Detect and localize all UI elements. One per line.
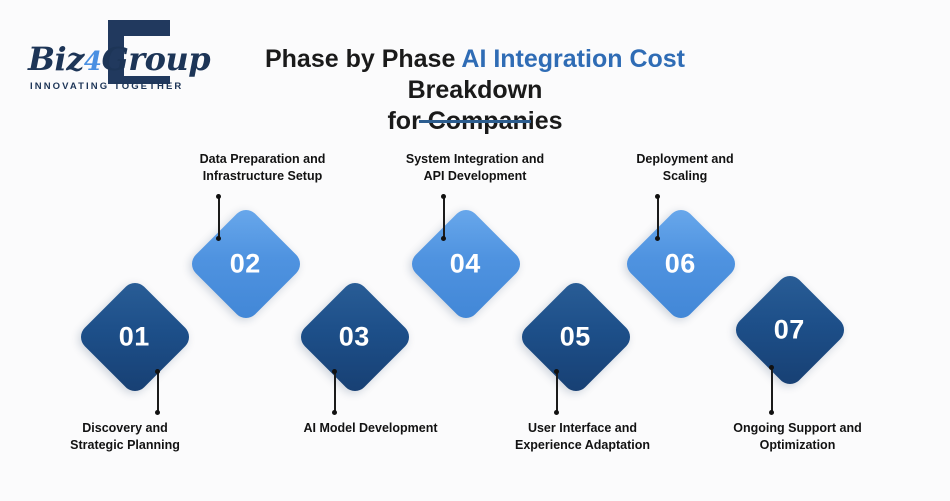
step-label-05-line2: Experience Adaptation — [490, 437, 675, 454]
step-connector-05 — [556, 371, 558, 413]
step-diamond-01[interactable]: 01 — [76, 278, 195, 397]
step-connector-dot-top-05 — [554, 369, 559, 374]
step-number-01: 01 — [119, 323, 150, 350]
page-title: Phase by Phase AI Integration Cost Break… — [200, 44, 750, 137]
step-label-02-line2: Infrastructure Setup — [170, 168, 355, 185]
title-divider — [419, 120, 531, 123]
step-connector-04 — [443, 196, 445, 240]
step-number-05: 05 — [560, 323, 591, 350]
step-diamond-06[interactable]: 06 — [622, 205, 741, 324]
step-connector-dot-top-02 — [216, 194, 221, 199]
step-connector-dot-bottom-05 — [554, 410, 559, 415]
step-number-02: 02 — [230, 250, 261, 277]
infographic-canvas: Biz4Group INNOVATING TOGETHER Phase by P… — [0, 0, 950, 501]
logo-word-biz: Biz — [28, 40, 84, 78]
step-label-07: Ongoing Support and Optimization — [705, 420, 890, 454]
step-label-04-line2: API Development — [380, 168, 570, 185]
step-connector-dot-top-01 — [155, 369, 160, 374]
step-number-07: 07 — [774, 316, 805, 343]
brand-logo[interactable]: Biz4Group INNOVATING TOGETHER — [16, 18, 191, 92]
step-connector-dot-bottom-06 — [655, 236, 660, 241]
step-diamond-03[interactable]: 03 — [296, 278, 415, 397]
step-diamond-04[interactable]: 04 — [407, 205, 526, 324]
step-connector-dot-bottom-01 — [155, 410, 160, 415]
step-number-03: 03 — [339, 323, 370, 350]
step-label-04: System Integration and API Development — [380, 151, 570, 185]
step-connector-dot-top-06 — [655, 194, 660, 199]
step-label-05-line1: User Interface and — [490, 420, 675, 437]
logo-wordmark: Biz4Group — [28, 40, 210, 78]
step-connector-07 — [771, 367, 773, 413]
step-label-06: Deployment and Scaling — [605, 151, 765, 185]
title-segment-highlight: AI Integration Cost — [461, 45, 685, 73]
step-label-01-line1: Discovery and — [35, 420, 215, 437]
step-diamond-02[interactable]: 02 — [187, 205, 306, 324]
step-label-06-line1: Deployment and — [605, 151, 765, 168]
step-connector-dot-bottom-07 — [769, 410, 774, 415]
logo-word-four: 4 — [84, 47, 102, 77]
step-connector-dot-bottom-04 — [441, 236, 446, 241]
step-label-07-line1: Ongoing Support and — [705, 420, 890, 437]
logo-tagline: INNOVATING TOGETHER — [30, 81, 183, 92]
step-connector-dot-top-07 — [769, 365, 774, 370]
step-connector-03 — [334, 371, 336, 413]
logo-word-group: Group — [101, 40, 210, 78]
title-segment-after: Breakdown — [408, 76, 543, 104]
step-connector-06 — [657, 196, 659, 240]
step-label-02-line1: Data Preparation and — [170, 151, 355, 168]
step-diamond-05[interactable]: 05 — [517, 278, 636, 397]
step-number-06: 06 — [665, 250, 696, 277]
step-connector-01 — [157, 371, 159, 413]
step-label-01-line2: Strategic Planning — [35, 437, 215, 454]
step-connector-dot-top-03 — [332, 369, 337, 374]
step-label-02: Data Preparation and Infrastructure Setu… — [170, 151, 355, 185]
step-connector-02 — [218, 196, 220, 240]
step-label-03: AI Model Development — [278, 420, 463, 437]
step-number-04: 04 — [450, 250, 481, 277]
step-label-06-line2: Scaling — [605, 168, 765, 185]
step-diamond-07[interactable]: 07 — [731, 271, 850, 390]
step-label-01: Discovery and Strategic Planning — [35, 420, 215, 454]
step-connector-dot-bottom-03 — [332, 410, 337, 415]
step-connector-dot-top-04 — [441, 194, 446, 199]
step-label-04-line1: System Integration and — [380, 151, 570, 168]
step-label-07-line2: Optimization — [705, 437, 890, 454]
step-label-03-line1: AI Model Development — [278, 420, 463, 437]
title-segment-before: Phase by Phase — [265, 45, 461, 73]
step-connector-dot-bottom-02 — [216, 236, 221, 241]
step-label-05: User Interface and Experience Adaptation — [490, 420, 675, 454]
